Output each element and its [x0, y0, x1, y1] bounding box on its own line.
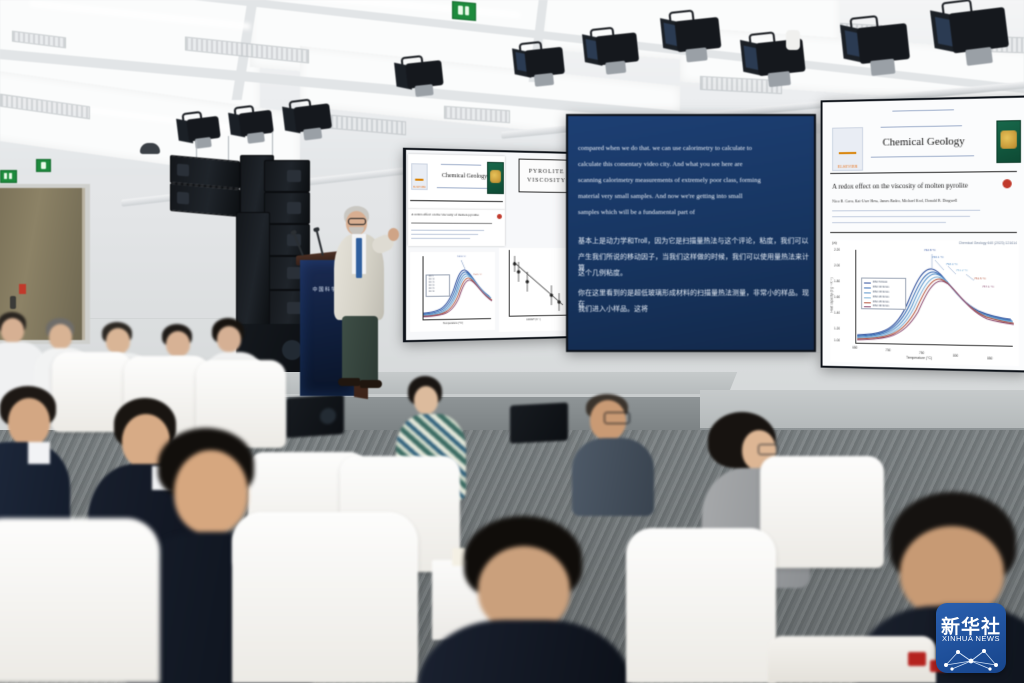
legend-swatch [864, 283, 871, 284]
journal-cover-thumb [487, 162, 504, 194]
crossmark-icon [497, 214, 502, 219]
legend-swatch [864, 302, 871, 303]
ceiling-vent [330, 115, 406, 136]
affiliation-line [411, 230, 484, 231]
paper-title: A redox effect on the viscosity of molte… [832, 182, 968, 191]
affiliation-line [832, 210, 980, 212]
peak-annotation: 754.5 °C [473, 274, 482, 276]
elsevier-label: ELSEVIER [833, 164, 862, 169]
fire-alarm-box [19, 284, 26, 294]
authors-line [411, 223, 492, 224]
affiliation-line [832, 216, 970, 217]
journal-title: Chemical Geology [442, 173, 487, 180]
legend-item: DSC 20 K/min [873, 295, 889, 298]
contents-line [881, 125, 962, 128]
arrhenius-chart-small: 10000/T (K⁻¹) [499, 248, 576, 332]
paper-title-card: A redox effect on the viscosity of molte… [408, 209, 505, 246]
eyeglasses [604, 412, 630, 424]
led-screen-left: ELSEVIER Chemical Geology A redox effect… [406, 150, 580, 340]
caption-en-line: material very small samples. And now we'… [578, 192, 743, 202]
caption-cn-line: 我们进入小样品。这将 [578, 304, 648, 315]
x-axis-label: 10000/T (K⁻¹) [526, 318, 540, 321]
led-screen-right: Chemical Geology ELSEVIER A redox effect… [823, 98, 1024, 371]
chart-legend: DSC 5 K/min DSC 10 K/min DSC 15 K/min DS… [861, 278, 906, 310]
affiliation-line [411, 238, 470, 239]
legend-item: DSC 25 K/min [873, 300, 889, 303]
exit-sign [36, 159, 51, 172]
dsc-chart-large: (a) Chemical Geology 640 (2023) 121614 2… [830, 240, 1019, 366]
legend-item: DSC 5 K/min [873, 281, 888, 284]
running-head [892, 109, 954, 111]
affiliation-line [411, 234, 478, 235]
legend-swatch [864, 297, 871, 298]
header-rule [410, 200, 503, 202]
door-handle[interactable] [10, 296, 16, 309]
red-accent-marker [908, 652, 926, 666]
peak-annotation: 746.1 °C [932, 255, 944, 259]
journal-cover-thumb [996, 120, 1021, 163]
legend-item: DSC 10 K/min [873, 286, 889, 289]
body-rule [830, 232, 1017, 233]
caption-cn-line: 基本上是动力学和Troll，因为它是扫描量热法与这个评论，粘度，我们可以 [578, 236, 808, 247]
stage-monitor-speaker [510, 402, 568, 443]
peak-annotation: 742.8 °C [457, 256, 466, 258]
stage-monitor-speaker [286, 394, 344, 438]
elsevier-logo: ELSEVIER [832, 127, 863, 171]
conference-hall-photo: ELSEVIER Chemical Geology A redox effect… [0, 0, 1024, 683]
affiliation-line [832, 222, 946, 223]
legend-item: DSC 30 [429, 292, 435, 293]
legend-swatch [864, 306, 871, 307]
elsevier-logo: ELSEVIER [411, 163, 427, 190]
xinhua-watermark: 新华社 XINHUA NEWS [936, 603, 1006, 673]
chart-legend: DSC 5 DSC 10 DSC 15 DSC 20 DSC 25 DSC 30 [426, 274, 450, 297]
caption-en-line: calculate this comentary video city. And… [578, 160, 743, 170]
legend-item: DSC 15 K/min [873, 291, 889, 294]
homepage-line [871, 155, 974, 157]
dsc-chart-small: DSC 5 DSC 10 DSC 15 DSC 20 DSC 25 DSC 30… [410, 252, 495, 332]
journal-title: Chemical Geology [883, 135, 965, 148]
caption-en-line: samples which will be a fundamental part… [578, 208, 695, 218]
peak-annotation: 751.2 °C [956, 268, 968, 272]
legend-item: DSC 25 [429, 289, 435, 290]
peak-annotation: 757.1 °C [982, 285, 994, 289]
presenter-tie [356, 238, 362, 278]
network-graphic-icon [936, 645, 1006, 673]
caption-cn-line: 这个几例粘度。 [578, 268, 627, 279]
caption-en-line: scanning calorimetry measurements of ext… [578, 176, 761, 186]
peak-annotation: 748.4 °C [946, 262, 958, 266]
dome-camera [140, 143, 160, 154]
led-screen-center: compared when we do that. we can use cal… [568, 116, 814, 350]
presenter-glasses [348, 218, 366, 225]
presenter-shoe [360, 380, 382, 388]
exit-sign [452, 1, 476, 21]
paper-header-card: ELSEVIER Chemical Geology [408, 154, 505, 210]
legend-item: DSC 15 [429, 283, 435, 284]
peak-annotation: 754.5 °C [974, 276, 986, 280]
crossmark-icon [1003, 179, 1012, 188]
legend-item: DSC 10 [429, 280, 435, 281]
peak-annotation: 742.8 °C [924, 248, 936, 252]
header-rule [830, 171, 1017, 174]
eyeglasses [758, 444, 778, 455]
legend-item: DSC 5 [429, 277, 434, 278]
elsevier-label: ELSEVIER [412, 186, 426, 189]
homepage-line [437, 187, 487, 189]
legend-item: DSC 30 K/min [873, 304, 889, 307]
rigging-wire [272, 132, 273, 156]
dsc-curves [410, 252, 495, 332]
legend-swatch [864, 287, 871, 288]
paper-title: A redox effect on the viscosity of molte… [411, 212, 479, 217]
caption-en-line: compared when we do that. we can use cal… [578, 144, 752, 154]
x-axis-label: Temperature (°C) [443, 322, 463, 325]
legend-swatch [864, 292, 871, 293]
ceiling-pendant-speaker [786, 30, 800, 50]
presenter-trousers [342, 316, 378, 382]
contents-line [441, 164, 481, 166]
presenter-shoe [338, 378, 360, 386]
paper-authors: Nico R. Cava, Kai-Uwe Hess, James Badro,… [832, 198, 957, 204]
rigging-wire [228, 136, 229, 161]
presenter-hand [388, 228, 399, 241]
watermark-en-text: XINHUA NEWS [936, 634, 1006, 643]
exit-sign [0, 170, 17, 183]
dsc-curve-group [830, 240, 1019, 366]
legend-item: DSC 20 [429, 286, 435, 287]
